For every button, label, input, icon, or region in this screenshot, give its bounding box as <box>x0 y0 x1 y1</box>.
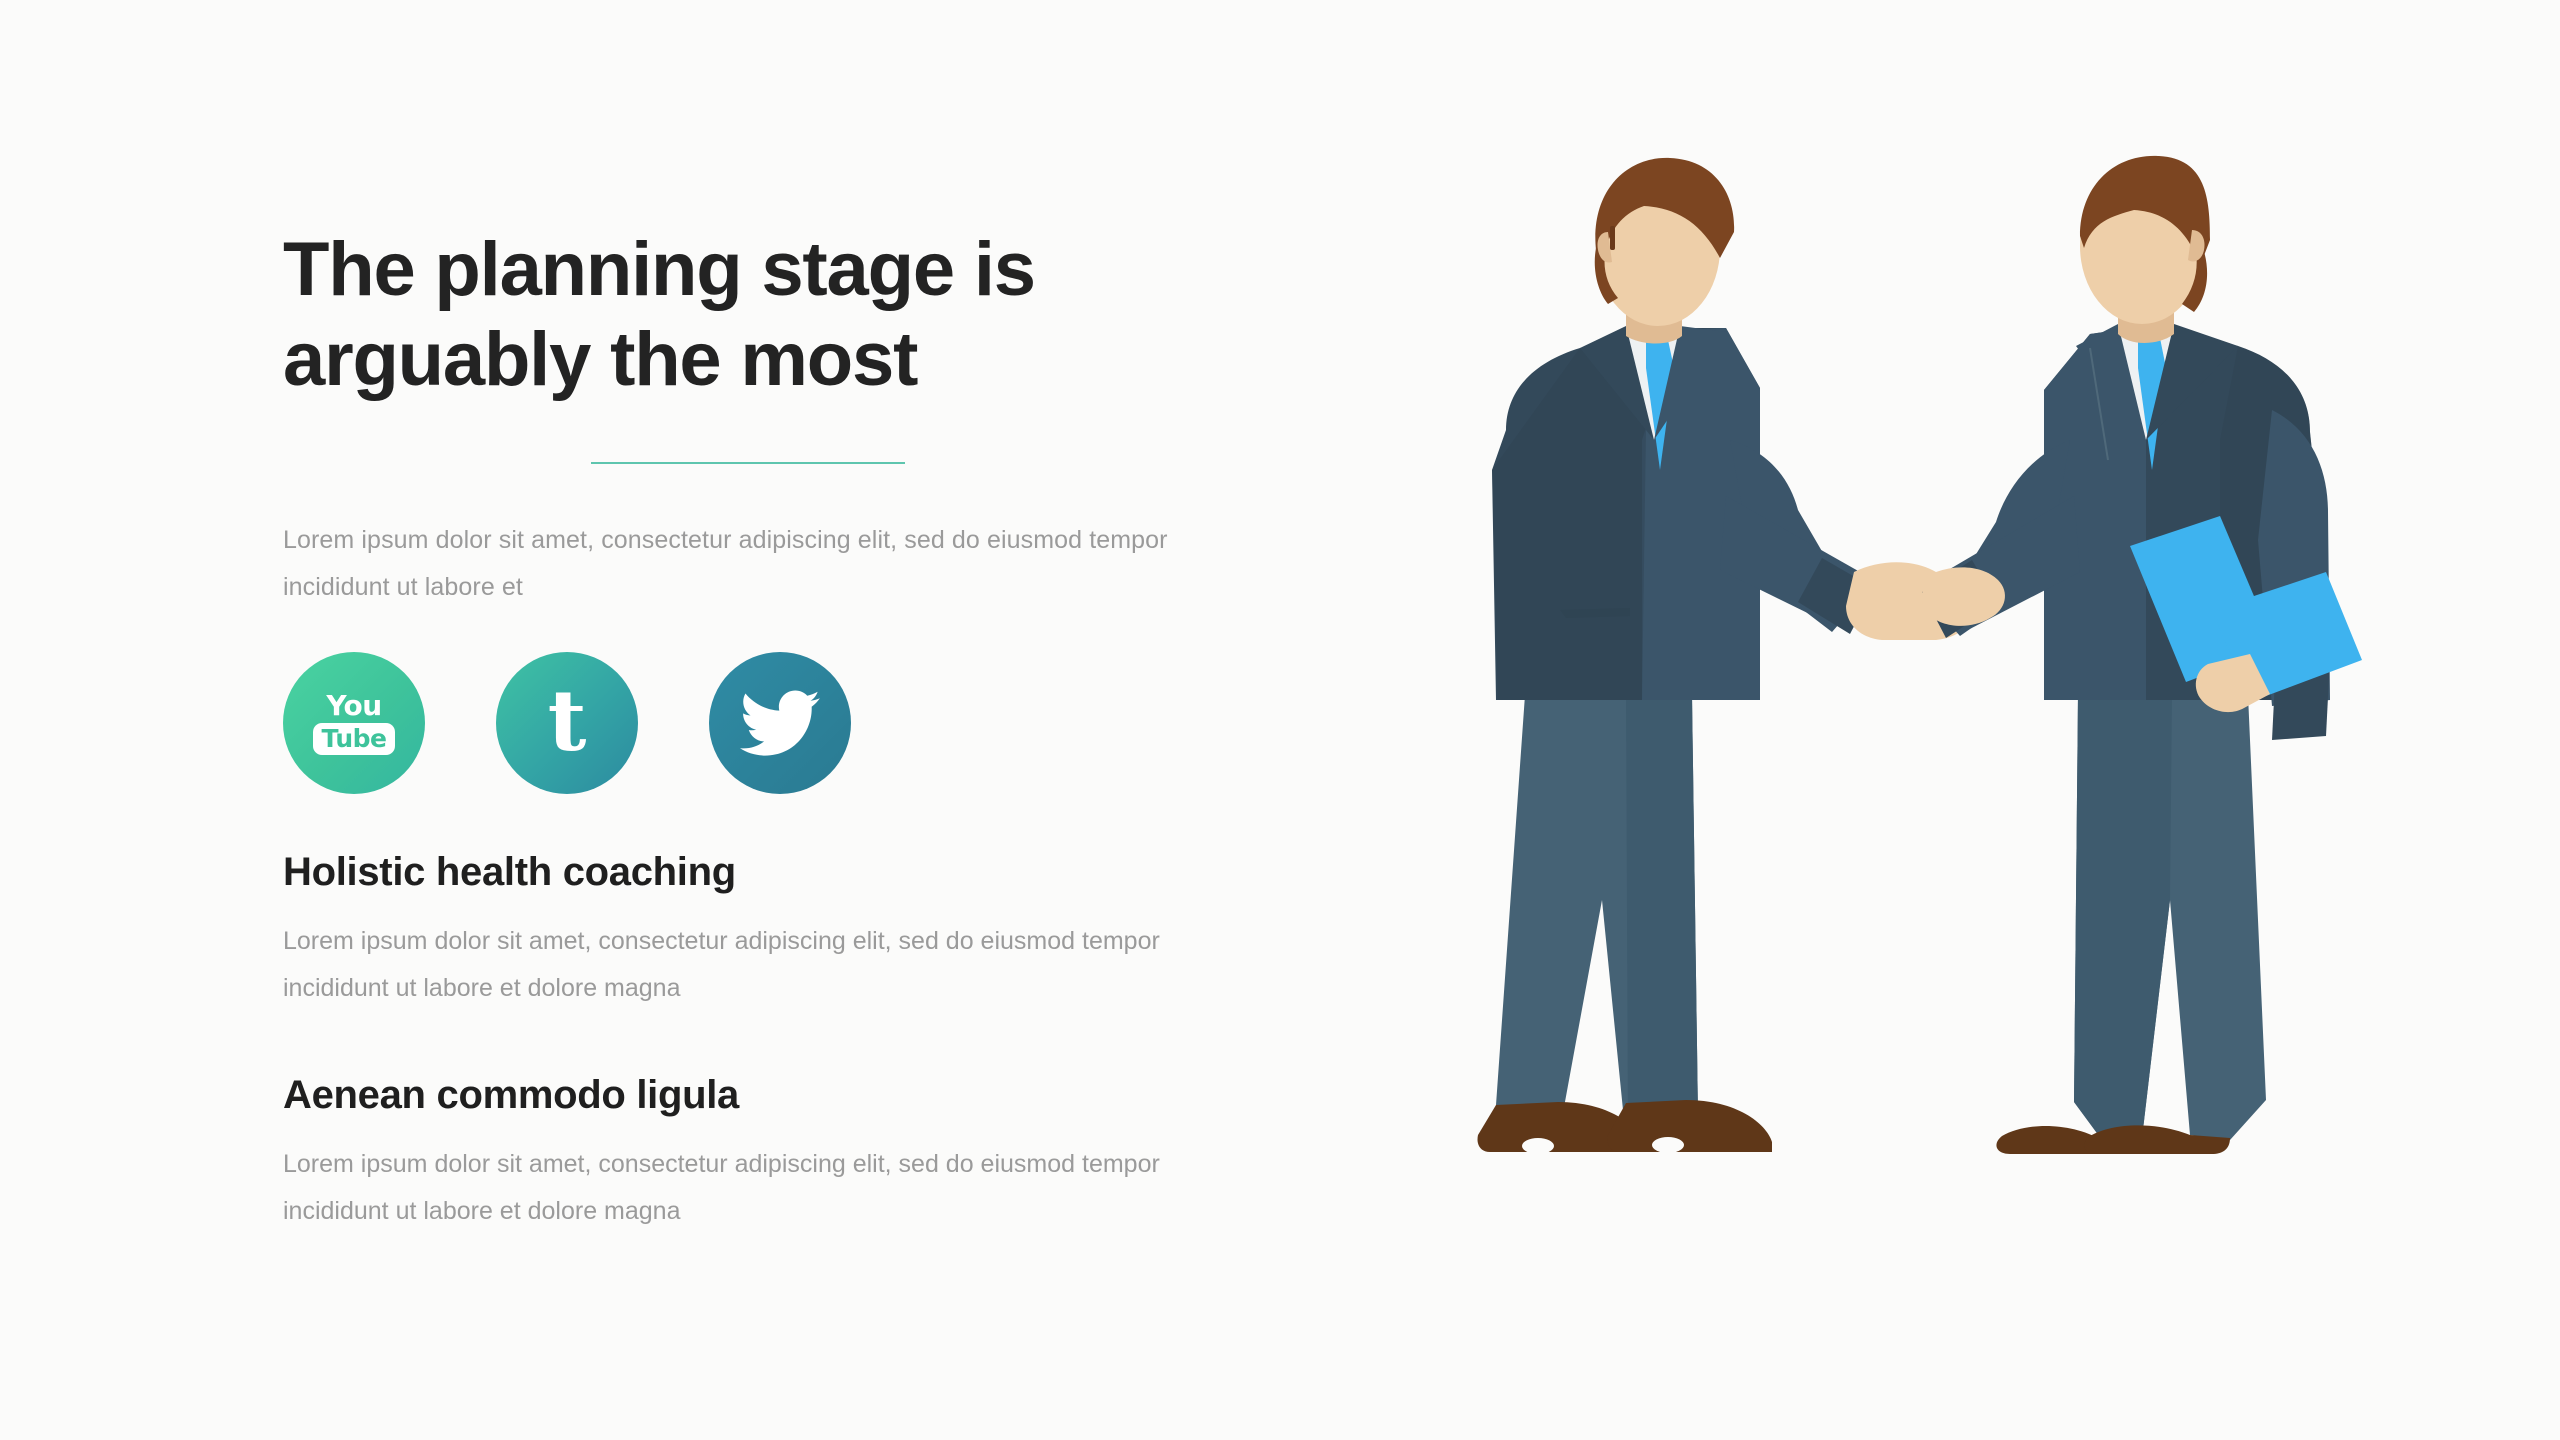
content-column: The planning stage is arguably the most … <box>283 225 1213 1234</box>
tumblr-glyph: t <box>548 679 587 763</box>
section-body: Lorem ipsum dolor sit amet, consectetur … <box>283 1141 1213 1234</box>
social-links: You Tube t <box>283 652 1213 794</box>
section-aenean-commodo-ligula: Aenean commodo ligula Lorem ipsum dolor … <box>283 1071 1213 1234</box>
tumblr-icon[interactable]: t <box>496 652 638 794</box>
twitter-icon[interactable] <box>709 652 851 794</box>
youtube-glyph: You Tube <box>317 692 391 755</box>
section-title: Aenean commodo ligula <box>283 1071 1213 1119</box>
twitter-bird-glyph <box>740 683 820 763</box>
youtube-tube-box: Tube <box>313 723 396 755</box>
handshake-illustration-svg <box>1430 140 2470 1320</box>
youtube-label-tube: Tube <box>322 724 387 753</box>
title-divider <box>591 462 905 464</box>
section-title: Holistic health coaching <box>283 848 1213 896</box>
handshake-illustration <box>1430 140 2470 1320</box>
section-body: Lorem ipsum dolor sit amet, consectetur … <box>283 918 1213 1011</box>
businessman-right <box>1922 156 2362 1154</box>
intro-paragraph: Lorem ipsum dolor sit amet, consectetur … <box>283 517 1213 610</box>
left-trouser-shadow <box>1626 696 1698 1145</box>
youtube-label-you: You <box>326 692 381 720</box>
youtube-icon[interactable]: You Tube <box>283 652 425 794</box>
slide-canvas: The planning stage is arguably the most … <box>0 0 2560 1440</box>
left-shoe-front <box>1608 1100 1773 1152</box>
section-holistic-health-coaching: Holistic health coaching Lorem ipsum dol… <box>283 848 1213 1011</box>
left-shoe-front-notch <box>1652 1137 1684 1153</box>
page-title: The planning stage is arguably the most <box>283 225 1183 404</box>
left-shoe-back-notch <box>1522 1138 1554 1154</box>
businessman-left <box>1478 158 1971 1154</box>
right-trouser-shadow <box>2074 695 2172 1140</box>
left-hair-strand <box>1610 226 1615 250</box>
